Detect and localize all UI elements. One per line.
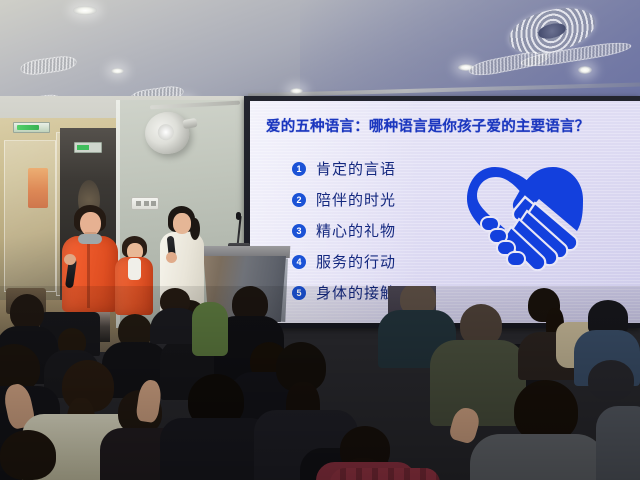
bullet-number: 2 [292, 193, 306, 207]
black-cap-icon [588, 300, 628, 334]
bullet-text: 精心的礼物 [316, 220, 396, 241]
list-item: 3 精心的礼物 [292, 215, 482, 246]
face [173, 213, 191, 234]
audience [0, 286, 640, 480]
exit-sign-icon [13, 122, 50, 133]
bullet-text: 肯定的言语 [316, 158, 396, 179]
inner-shirt [128, 258, 141, 280]
bullet-text: 服务的行动 [316, 251, 396, 272]
grey-hooded-jacket [470, 434, 606, 480]
head-rear [0, 430, 56, 480]
downlight [290, 88, 303, 94]
microphone-head-icon [236, 212, 241, 220]
downlight [73, 6, 97, 15]
handshake-heart-logo [465, 159, 585, 271]
wall-poster [28, 168, 48, 208]
downlight [578, 66, 592, 74]
slide-bullet-list: 1 肯定的言语 2 陪伴的时光 3 精心的礼物 4 服务的行动 5 身体的接触 [292, 153, 482, 308]
head-rear [514, 380, 578, 442]
list-item: 4 服务的行动 [292, 246, 482, 277]
bullet-number: 1 [292, 162, 306, 176]
list-item: 1 肯定的言语 [292, 153, 482, 184]
bullet-text: 陪伴的时光 [316, 189, 396, 210]
olive-jacket [430, 340, 526, 426]
slide-title: 爱的五种语言：哪种语言是你孩子爱的主要语言？ [266, 115, 634, 136]
hand [166, 252, 177, 263]
hand [64, 254, 76, 265]
glass-pane [4, 140, 56, 292]
wall-outlet-panel [131, 197, 159, 210]
plaid-pattern [330, 468, 440, 480]
torso [596, 406, 640, 480]
bullet-number: 4 [292, 255, 306, 269]
list-item: 2 陪伴的时光 [292, 184, 482, 215]
collar [78, 234, 102, 244]
head-rear [588, 360, 634, 400]
seminar-photo: 爱的五种语言：哪种语言是你孩子爱的主要语言？ 1 肯定的言语 2 陪伴的时光 3… [0, 0, 640, 480]
green-sleeve [192, 302, 228, 356]
head-rear [10, 294, 44, 330]
downlight [111, 68, 124, 74]
bullet-number: 3 [292, 224, 306, 238]
exit-sign-icon [74, 142, 102, 153]
